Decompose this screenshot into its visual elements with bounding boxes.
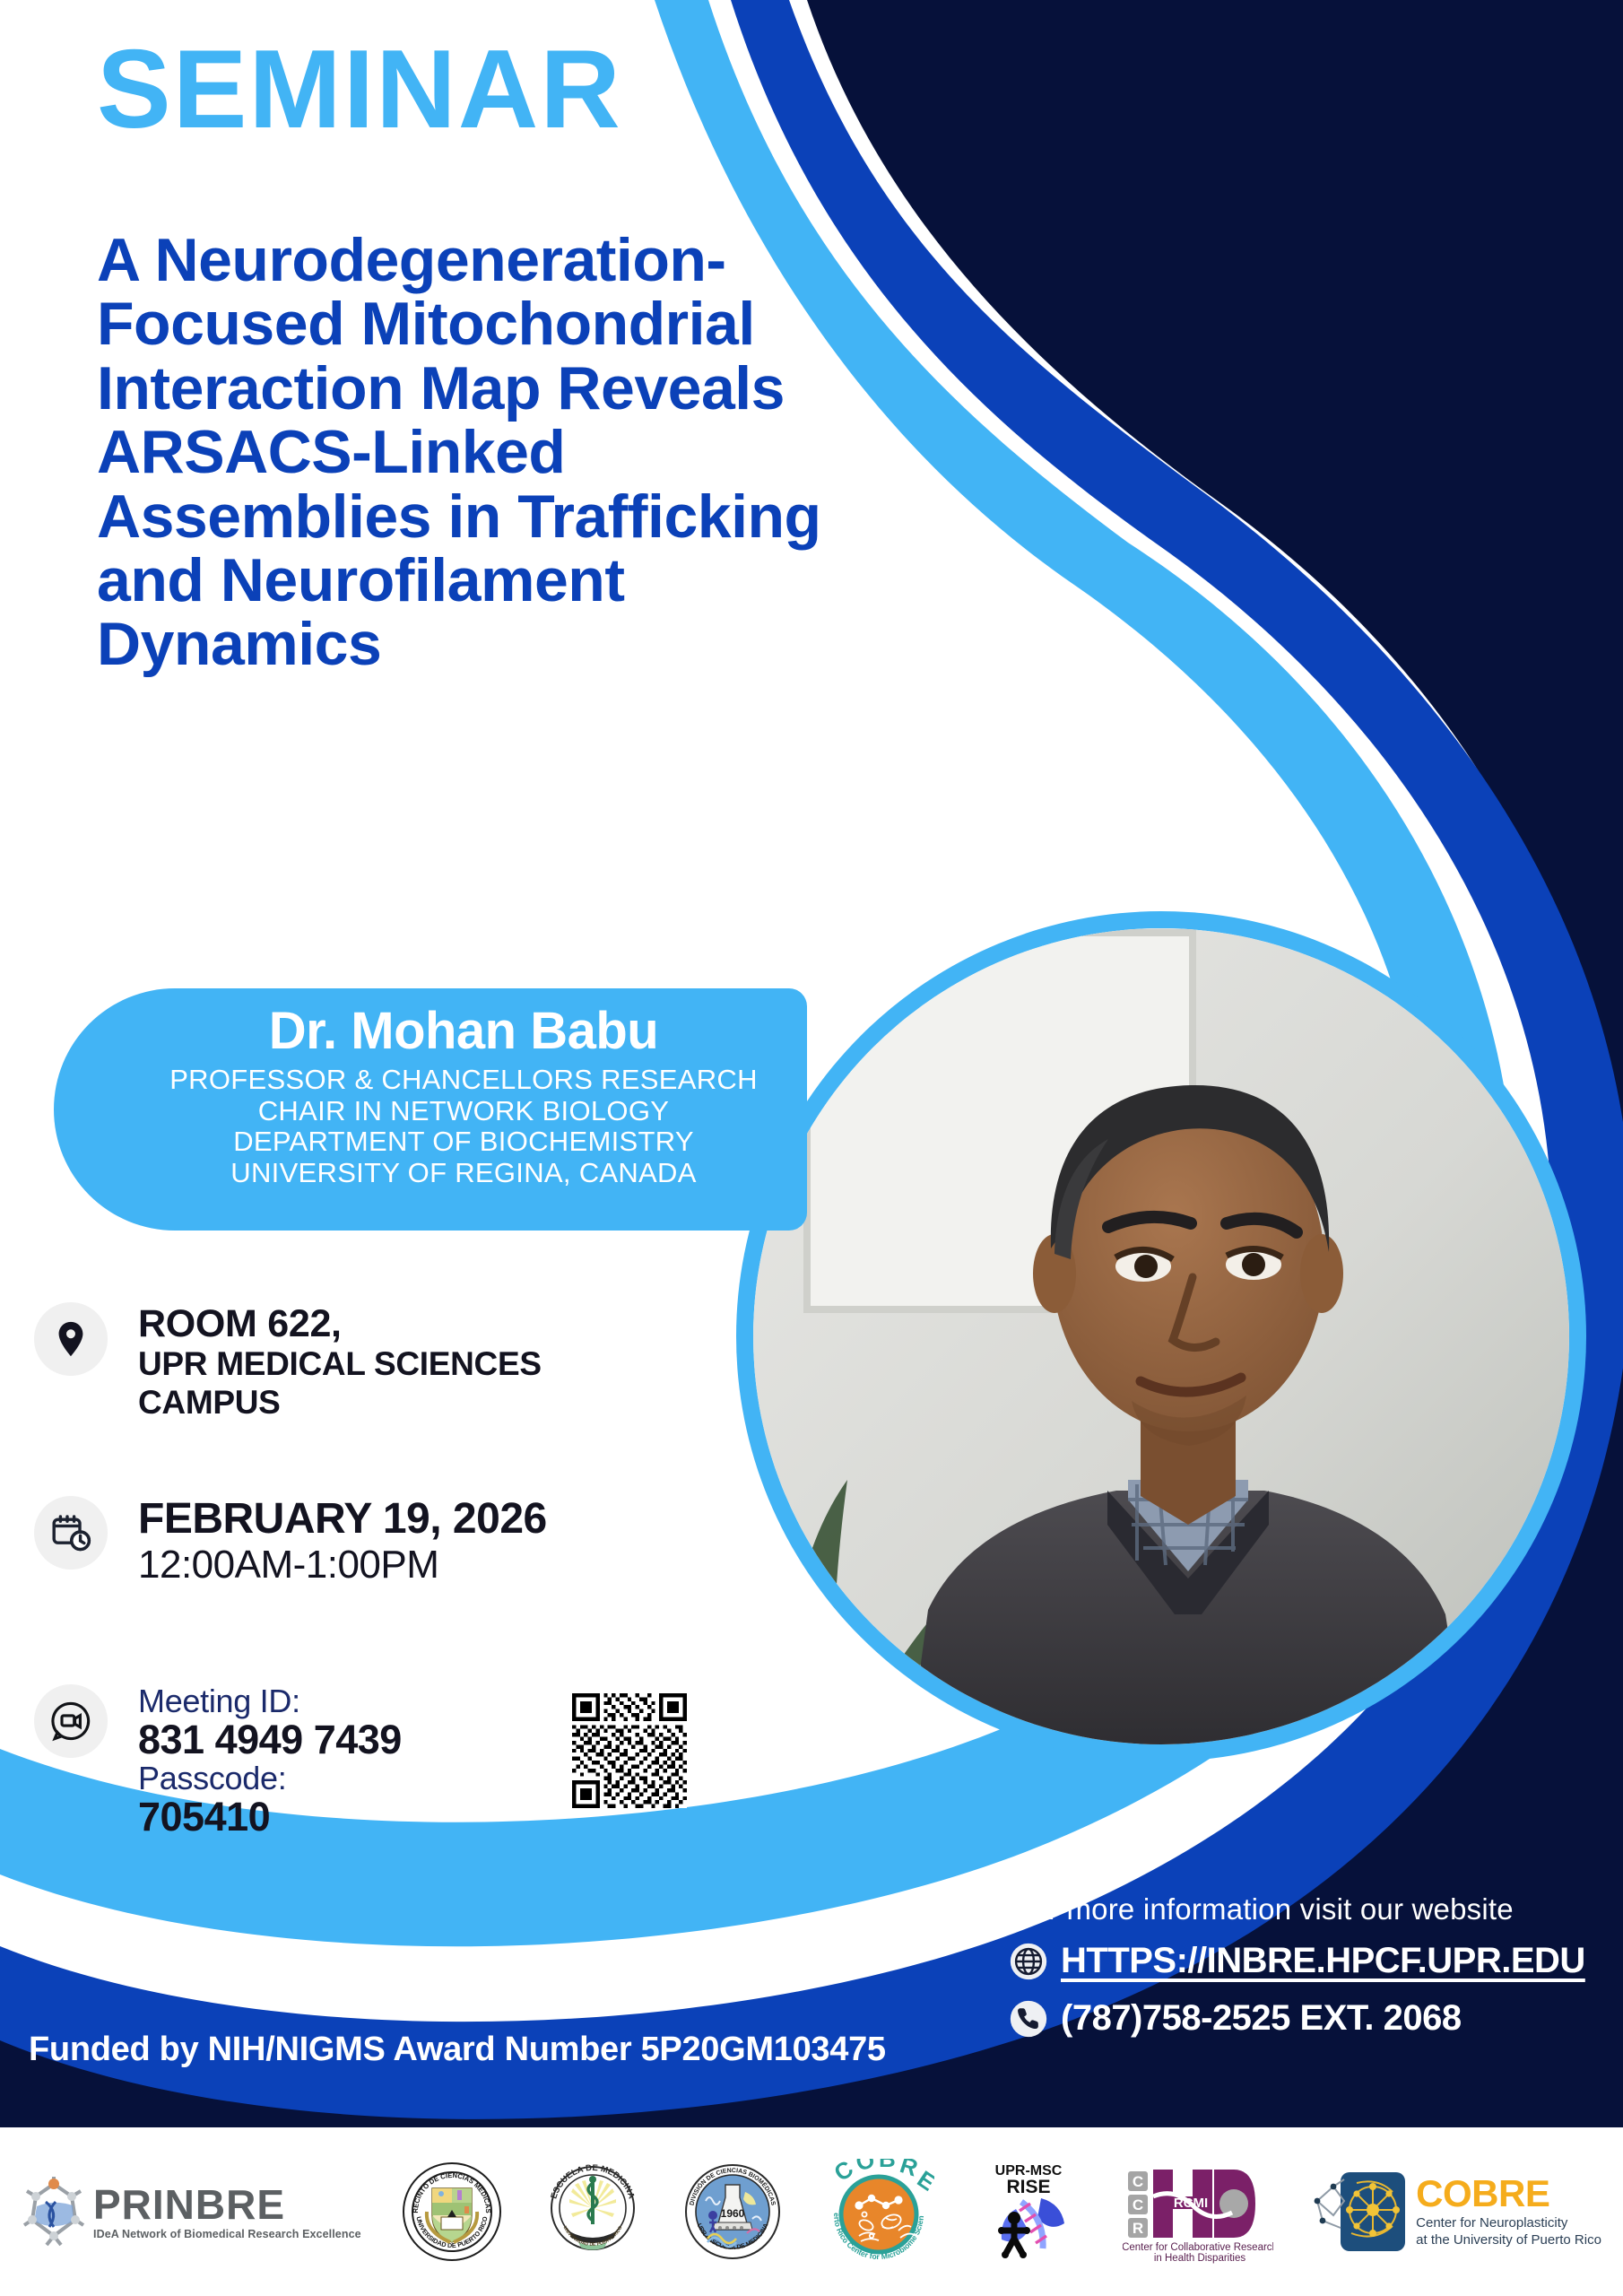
- meeting-id-value: 831 4949 7439: [138, 1718, 402, 1762]
- escuela-de-medicina-seal: ESCUELA DE MEDICINA UNIVERSIDAD DE PUERT…: [542, 2161, 643, 2262]
- upr-msc-rise-icon: UPR-MSC RISE: [975, 2159, 1082, 2265]
- phone-row[interactable]: (787)758-2525 EXT. 2068: [1009, 1998, 1462, 2039]
- svg-text:B: B: [879, 2159, 896, 2172]
- svg-text:RCMI: RCMI: [1174, 2196, 1208, 2211]
- sponsor-logo-strip: PRINBRE IDeA Network of Biomedical Resea…: [0, 2127, 1623, 2296]
- kicker-seminar: SEMINAR: [97, 34, 622, 145]
- cobre-neuroplasticity-logo: COBRE Center for Neuroplasticity at the …: [1314, 2165, 1601, 2258]
- seal-year: 1960: [721, 2207, 745, 2220]
- prinbre-molecule-icon: [22, 2175, 86, 2248]
- title-line: Focused Mitochondrial: [97, 292, 823, 356]
- title-line: ARSACS-Linked: [97, 421, 823, 484]
- speaker-badge: Dr. Mohan Babu PROFESSOR & CHANCELLORS R…: [54, 988, 807, 1231]
- meeting-row: Meeting ID: 831 4949 7439 Passcode: 7054…: [34, 1684, 402, 1839]
- video-chat-icon: [34, 1684, 108, 1758]
- cobre-microbiome-icon: C O B R E Puerto Rico Center for Microbi…: [823, 2159, 934, 2265]
- svg-text:R: R: [1133, 2220, 1143, 2237]
- meeting-id-label: Meeting ID:: [138, 1684, 402, 1718]
- calendar-clock-icon: [34, 1496, 108, 1570]
- prinbre-logo: PRINBRE IDeA Network of Biomedical Resea…: [22, 2175, 361, 2248]
- map-pin-icon: [34, 1302, 108, 1376]
- upr-rcm-seal-icon: • RECINTO DE CIENCIAS MEDICAS • UNIVERSI…: [402, 2161, 502, 2262]
- globe-icon: [1009, 1942, 1048, 1981]
- phone-icon: [1009, 1999, 1048, 2039]
- prinbre-wordmark: PRINBRE: [93, 2184, 361, 2225]
- upr-msc-rise-logo: UPR-MSC RISE: [975, 2159, 1082, 2265]
- website-row[interactable]: HTTPS://INBRE.HPCF.UPR.EDU: [1009, 1941, 1585, 1981]
- svg-text:O: O: [853, 2159, 879, 2177]
- svg-text:C: C: [1133, 2196, 1143, 2213]
- page-title: A Neurodegeneration- Focused Mitochondri…: [97, 229, 823, 677]
- svg-text:C: C: [829, 2159, 859, 2187]
- affiliation-line: PROFESSOR & CHANCELLORS RESEARCH: [120, 1065, 807, 1096]
- affiliation-line: CHAIR IN NETWORK BIOLOGY: [120, 1096, 807, 1127]
- ccr-hd-tagline-2: in Health Disparities: [1154, 2253, 1246, 2264]
- meeting-qr-code[interactable]: [572, 1693, 687, 1808]
- passcode-label: Passcode:: [138, 1761, 402, 1796]
- cobre-microbiome-logo: C O B R E Puerto Rico Center for Microbi…: [823, 2159, 934, 2265]
- upr-rcm-seal: • RECINTO DE CIENCIAS MEDICAS • UNIVERSI…: [402, 2161, 502, 2262]
- division-ciencias-biomedicas-seal: DIVISIÓN DE CIENCIAS BIOMÉDICAS UPR • ES…: [682, 2161, 783, 2262]
- speaker-name: Dr. Mohan Babu: [54, 1001, 807, 1061]
- cobre-tagline: Center for Neuroplasticity: [1416, 2213, 1601, 2232]
- title-line: Dynamics: [97, 613, 823, 676]
- ccr-hd-tagline: Center for Collaborative Research: [1123, 2242, 1273, 2253]
- location-line-1: ROOM 622,: [138, 1302, 542, 1345]
- title-line: A Neurodegeneration-: [97, 229, 823, 292]
- affiliation-line: UNIVERSITY OF REGINA, CANADA: [120, 1158, 807, 1189]
- more-info-text: For more information visit our website: [1013, 1892, 1514, 1926]
- event-time: 12:00AM-1:00PM: [138, 1543, 547, 1588]
- escuela-medicina-seal-icon: ESCUELA DE MEDICINA UNIVERSIDAD DE PUERT…: [542, 2161, 643, 2262]
- phone-number[interactable]: (787)758-2525 EXT. 2068: [1048, 1998, 1462, 2039]
- funding-statement: Funded by NIH/NIGMS Award Number 5P20GM1…: [29, 2031, 886, 2069]
- rise-line2: RISE: [1007, 2177, 1051, 2197]
- website-url[interactable]: HTTPS://INBRE.HPCF.UPR.EDU: [1048, 1941, 1585, 1981]
- title-line: and Neurofilament: [97, 549, 823, 613]
- cobre-tagline-2: at the University of Puerto Rico: [1416, 2232, 1601, 2249]
- ccr-hd-rcmi-icon: CCR RCMI Center for Collaborative Resear…: [1123, 2159, 1273, 2265]
- passcode-value: 705410: [138, 1796, 402, 1839]
- division-biomedicas-seal-icon: DIVISIÓN DE CIENCIAS BIOMÉDICAS UPR • ES…: [682, 2161, 783, 2262]
- prinbre-tagline: IDeA Network of Biomedical Research Exce…: [93, 2225, 361, 2240]
- affiliation-line: DEPARTMENT OF BIOCHEMISTRY: [120, 1126, 807, 1158]
- title-line: Assemblies in Trafficking: [97, 485, 823, 549]
- location-line-2: UPR MEDICAL SCIENCES: [138, 1345, 542, 1384]
- svg-text:C: C: [1133, 2173, 1143, 2190]
- cobre-wordmark: COBRE: [1416, 2175, 1601, 2213]
- location-row: ROOM 622, UPR MEDICAL SCIENCES CAMPUS: [34, 1302, 542, 1422]
- cobre-brain-icon: [1314, 2165, 1410, 2258]
- location-line-3: CAMPUS: [138, 1384, 542, 1422]
- date-row: FEBRUARY 19, 2026 12:00AM-1:00PM: [34, 1496, 547, 1587]
- speaker-affiliation: PROFESSOR & CHANCELLORS RESEARCH CHAIR I…: [54, 1061, 807, 1189]
- event-date: FEBRUARY 19, 2026: [138, 1496, 547, 1543]
- title-line: Interaction Map Reveals: [97, 357, 823, 421]
- ccr-hd-rcmi-logo: CCR RCMI Center for Collaborative Resear…: [1123, 2159, 1273, 2265]
